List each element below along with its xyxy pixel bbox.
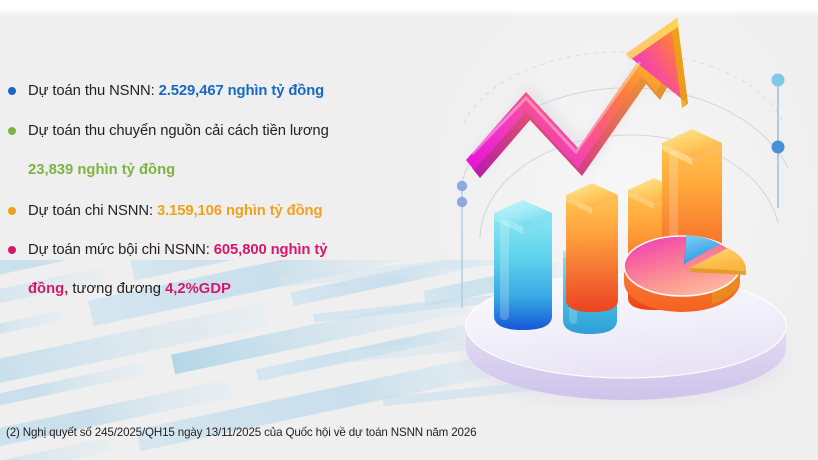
growth-arrow	[466, 18, 688, 178]
bullet-item-thu-nsnn: Dự toán thu NSNN: 2.529,467 nghìn tỷ đồn…	[8, 78, 438, 104]
bullet-text: Dự toán chi NSNN: 3.159,106 nghìn tỷ đồn…	[28, 198, 322, 224]
bullet-dot-crimson	[8, 246, 16, 254]
bullet-dot-green	[8, 127, 16, 135]
bullet-continuation-value: 23,839 nghìn tỷ đồng	[28, 162, 175, 178]
bullet-continuation-line-2: đồng, tương đương 4,2%GDP	[28, 276, 438, 302]
bullet-item-chuyen-nguon: Dự toán thu chuyển nguồn cải cách tiền l…	[8, 118, 438, 144]
bullet-value: 605,800 nghìn tỷ	[214, 242, 328, 258]
bullet-label: Dự toán chi NSNN:	[28, 203, 157, 219]
bullet-text: Dự toán thu chuyển nguồn cải cách tiền l…	[28, 118, 329, 144]
bullet-dot-blue	[8, 87, 16, 95]
bullet-value: 2.529,467 nghìn tỷ đồng	[159, 83, 324, 99]
bullet-item-boi-chi: Dự toán mức bội chi NSNN: 605,800 nghìn …	[8, 237, 438, 263]
bullet-item-chi-nsnn: Dự toán chi NSNN: 3.159,106 nghìn tỷ đồn…	[8, 198, 438, 224]
top-white-band	[0, 0, 818, 11]
bullet-list: Dự toán thu NSNN: 2.529,467 nghìn tỷ đồn…	[8, 78, 438, 305]
bullet-tail-value: 4,2%GDP	[165, 281, 231, 297]
slide-canvas: Dự toán thu NSNN: 2.529,467 nghìn tỷ đồn…	[0, 0, 818, 460]
bullet-text: Dự toán thu NSNN: 2.529,467 nghìn tỷ đồn…	[28, 78, 324, 104]
bar-cyan-tall	[494, 200, 552, 330]
bullet-tail-text: tương đương	[68, 281, 165, 297]
illustration-3d-chart	[430, 8, 818, 408]
bullet-continuation-value: đồng,	[28, 281, 68, 297]
bullet-label: Dự toán mức bội chi NSNN:	[28, 242, 214, 258]
footnote-source: (2) Nghị quyết số 245/2025/QH15 ngày 13/…	[6, 426, 476, 439]
bullet-label: Dự toán thu chuyển nguồn cải cách tiền l…	[28, 123, 329, 139]
bullet-value: 3.159,106 nghìn tỷ đồng	[157, 203, 322, 219]
bullet-dot-orange	[8, 207, 16, 215]
bullet-label: Dự toán thu NSNN:	[28, 83, 159, 99]
bullet-continuation-line: 23,839 nghìn tỷ đồng	[28, 157, 438, 183]
bar-orange-mid	[566, 183, 618, 312]
bullet-text: Dự toán mức bội chi NSNN: 605,800 nghìn …	[28, 237, 327, 263]
